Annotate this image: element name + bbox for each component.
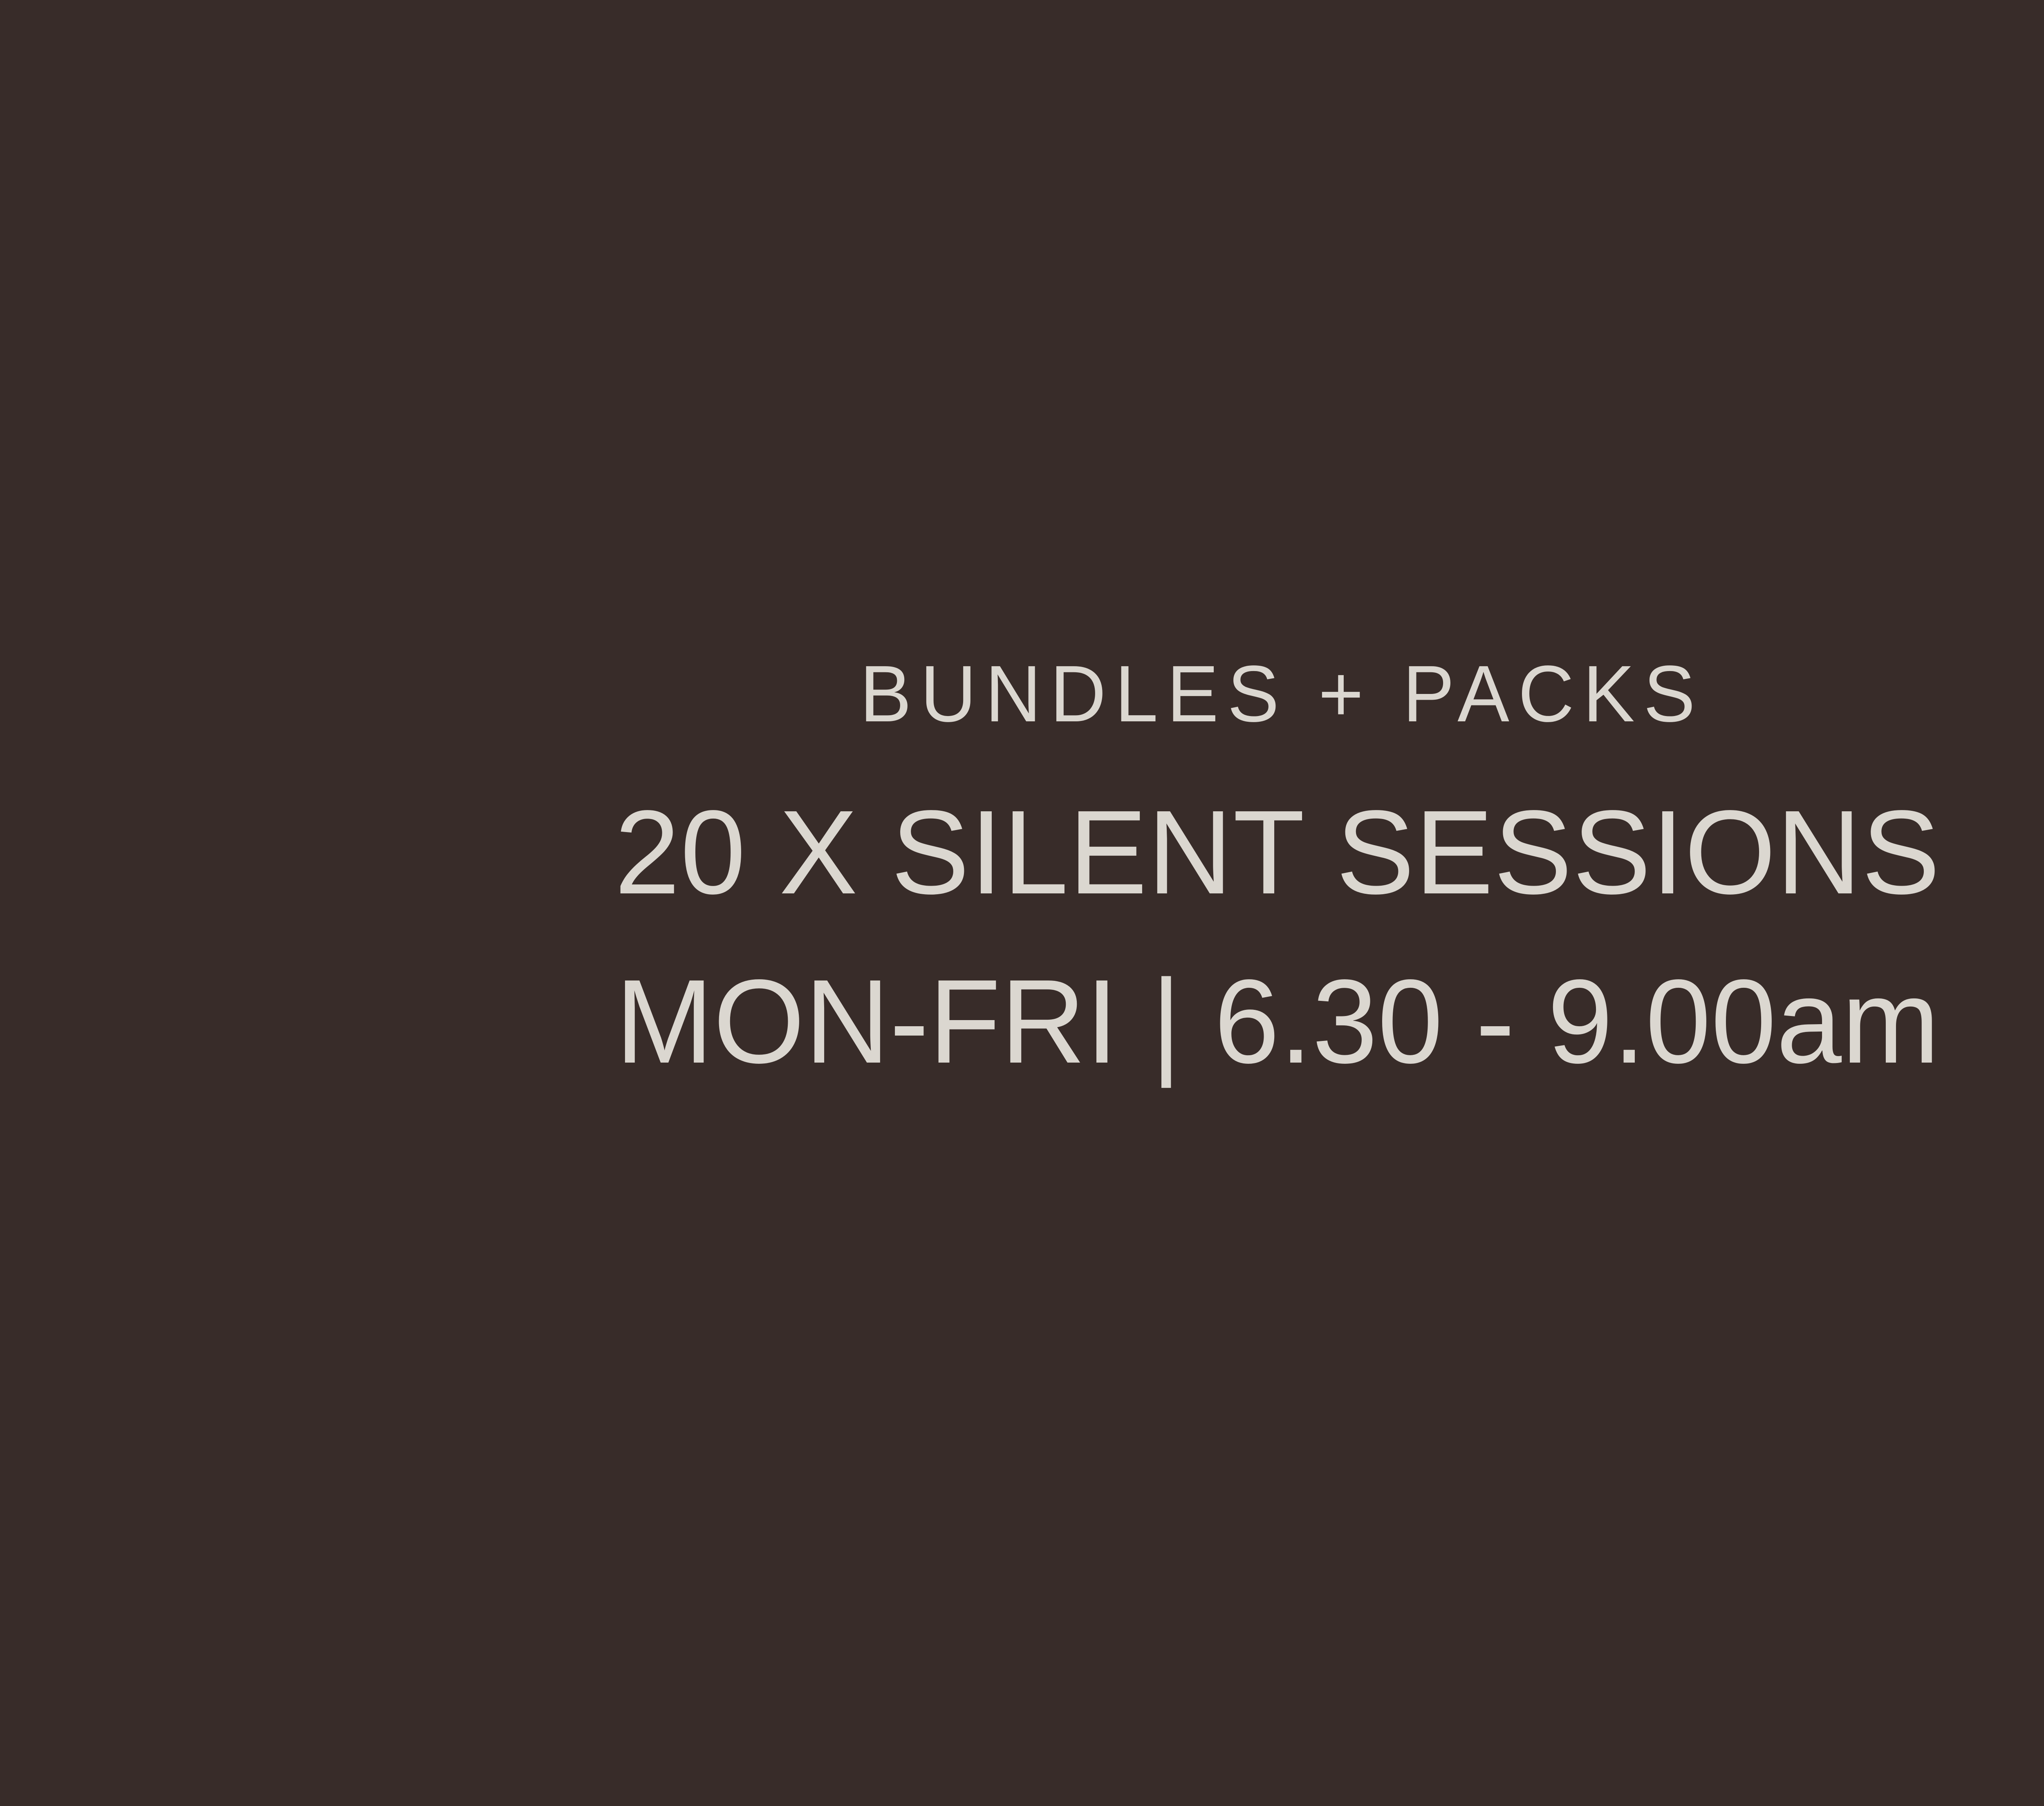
- promo-headline-line-1: 20 X SILENT SESSIONS: [19, 768, 2044, 937]
- promo-eyebrow: BUNDLES + PACKS: [38, 654, 2044, 734]
- promo-headline-line-2: MON-FRI | 6.30 - 9.00am: [19, 937, 2044, 1106]
- promo-text-stack: BUNDLES + PACKS 20 X SILENT SESSIONS MON…: [0, 654, 2044, 1106]
- promo-headline: 20 X SILENT SESSIONS MON-FRI | 6.30 - 9.…: [0, 768, 2044, 1106]
- promo-card: BUNDLES + PACKS 20 X SILENT SESSIONS MON…: [0, 0, 2044, 1806]
